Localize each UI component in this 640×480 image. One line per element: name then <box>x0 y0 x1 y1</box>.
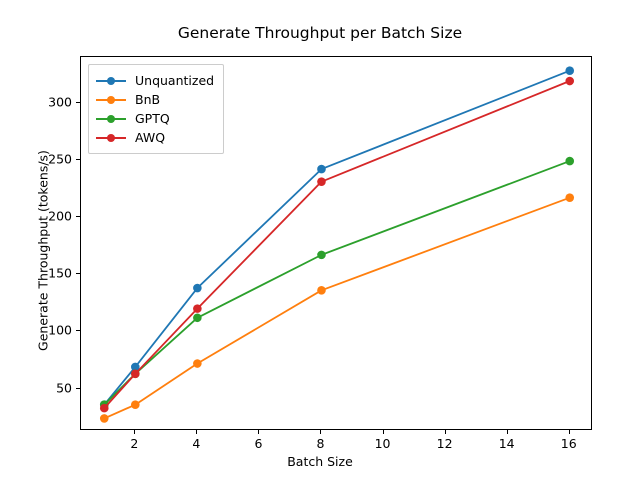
legend-item-bnb[interactable]: BnB <box>96 90 214 109</box>
x-tick-label: 12 <box>437 436 453 451</box>
legend: UnquantizedBnBGPTQAWQ <box>88 64 224 154</box>
x-axis-label: Batch Size <box>0 454 640 469</box>
series-line <box>104 198 569 419</box>
data-point <box>100 404 109 413</box>
legend-item-gptq[interactable]: GPTQ <box>96 109 214 128</box>
legend-item-awq[interactable]: AWQ <box>96 128 214 147</box>
x-tick-mark <box>569 430 570 434</box>
x-tick-label: 2 <box>130 436 138 451</box>
x-tick-mark <box>196 430 197 434</box>
legend-item-unquantized[interactable]: Unquantized <box>96 71 214 90</box>
y-tick-label: 200 <box>48 209 72 224</box>
data-point <box>317 251 326 260</box>
figure: Generate Throughput per Batch Size 24681… <box>0 0 640 480</box>
series-line <box>104 161 569 405</box>
x-tick-label: 6 <box>254 436 262 451</box>
y-tick-label: 150 <box>48 266 72 281</box>
legend-swatch-icon <box>96 99 126 101</box>
data-point <box>317 286 326 295</box>
data-point <box>565 66 574 75</box>
data-point <box>193 304 202 313</box>
data-point <box>131 400 140 409</box>
y-tick-label: 100 <box>48 323 72 338</box>
legend-label: BnB <box>135 93 160 106</box>
data-point <box>317 177 326 186</box>
data-point <box>193 359 202 368</box>
series-gptq <box>100 157 574 409</box>
x-tick-mark <box>134 430 135 434</box>
y-tick-label: 250 <box>48 151 72 166</box>
y-tick-mark <box>76 102 80 103</box>
data-point <box>193 284 202 293</box>
legend-swatch-icon <box>96 80 126 82</box>
legend-swatch-icon <box>96 118 126 120</box>
x-tick-label: 16 <box>561 436 577 451</box>
x-tick-mark <box>258 430 259 434</box>
y-tick-label: 300 <box>48 94 72 109</box>
legend-label: GPTQ <box>135 112 170 125</box>
data-point <box>193 313 202 322</box>
y-tick-mark <box>76 388 80 389</box>
data-point <box>100 414 109 423</box>
chart-title: Generate Throughput per Batch Size <box>0 24 640 42</box>
x-tick-label: 4 <box>192 436 200 451</box>
data-point <box>317 165 326 174</box>
x-tick-label: 8 <box>317 436 325 451</box>
y-tick-mark <box>76 159 80 160</box>
legend-swatch-icon <box>96 137 126 139</box>
y-tick-mark <box>76 330 80 331</box>
legend-label: Unquantized <box>135 74 214 87</box>
x-tick-label: 10 <box>375 436 391 451</box>
data-point <box>565 77 574 86</box>
y-tick-label: 50 <box>56 380 72 395</box>
data-point <box>565 157 574 166</box>
series-bnb <box>100 193 574 422</box>
x-tick-mark <box>507 430 508 434</box>
legend-label: AWQ <box>135 131 165 144</box>
data-point <box>131 370 140 379</box>
y-tick-mark <box>76 216 80 217</box>
x-tick-mark <box>383 430 384 434</box>
y-axis-label: Generate Throughput (tokens/s) <box>36 64 51 438</box>
x-tick-mark <box>445 430 446 434</box>
data-point <box>565 193 574 202</box>
y-tick-mark <box>76 273 80 274</box>
x-tick-mark <box>320 430 321 434</box>
x-tick-label: 14 <box>499 436 515 451</box>
